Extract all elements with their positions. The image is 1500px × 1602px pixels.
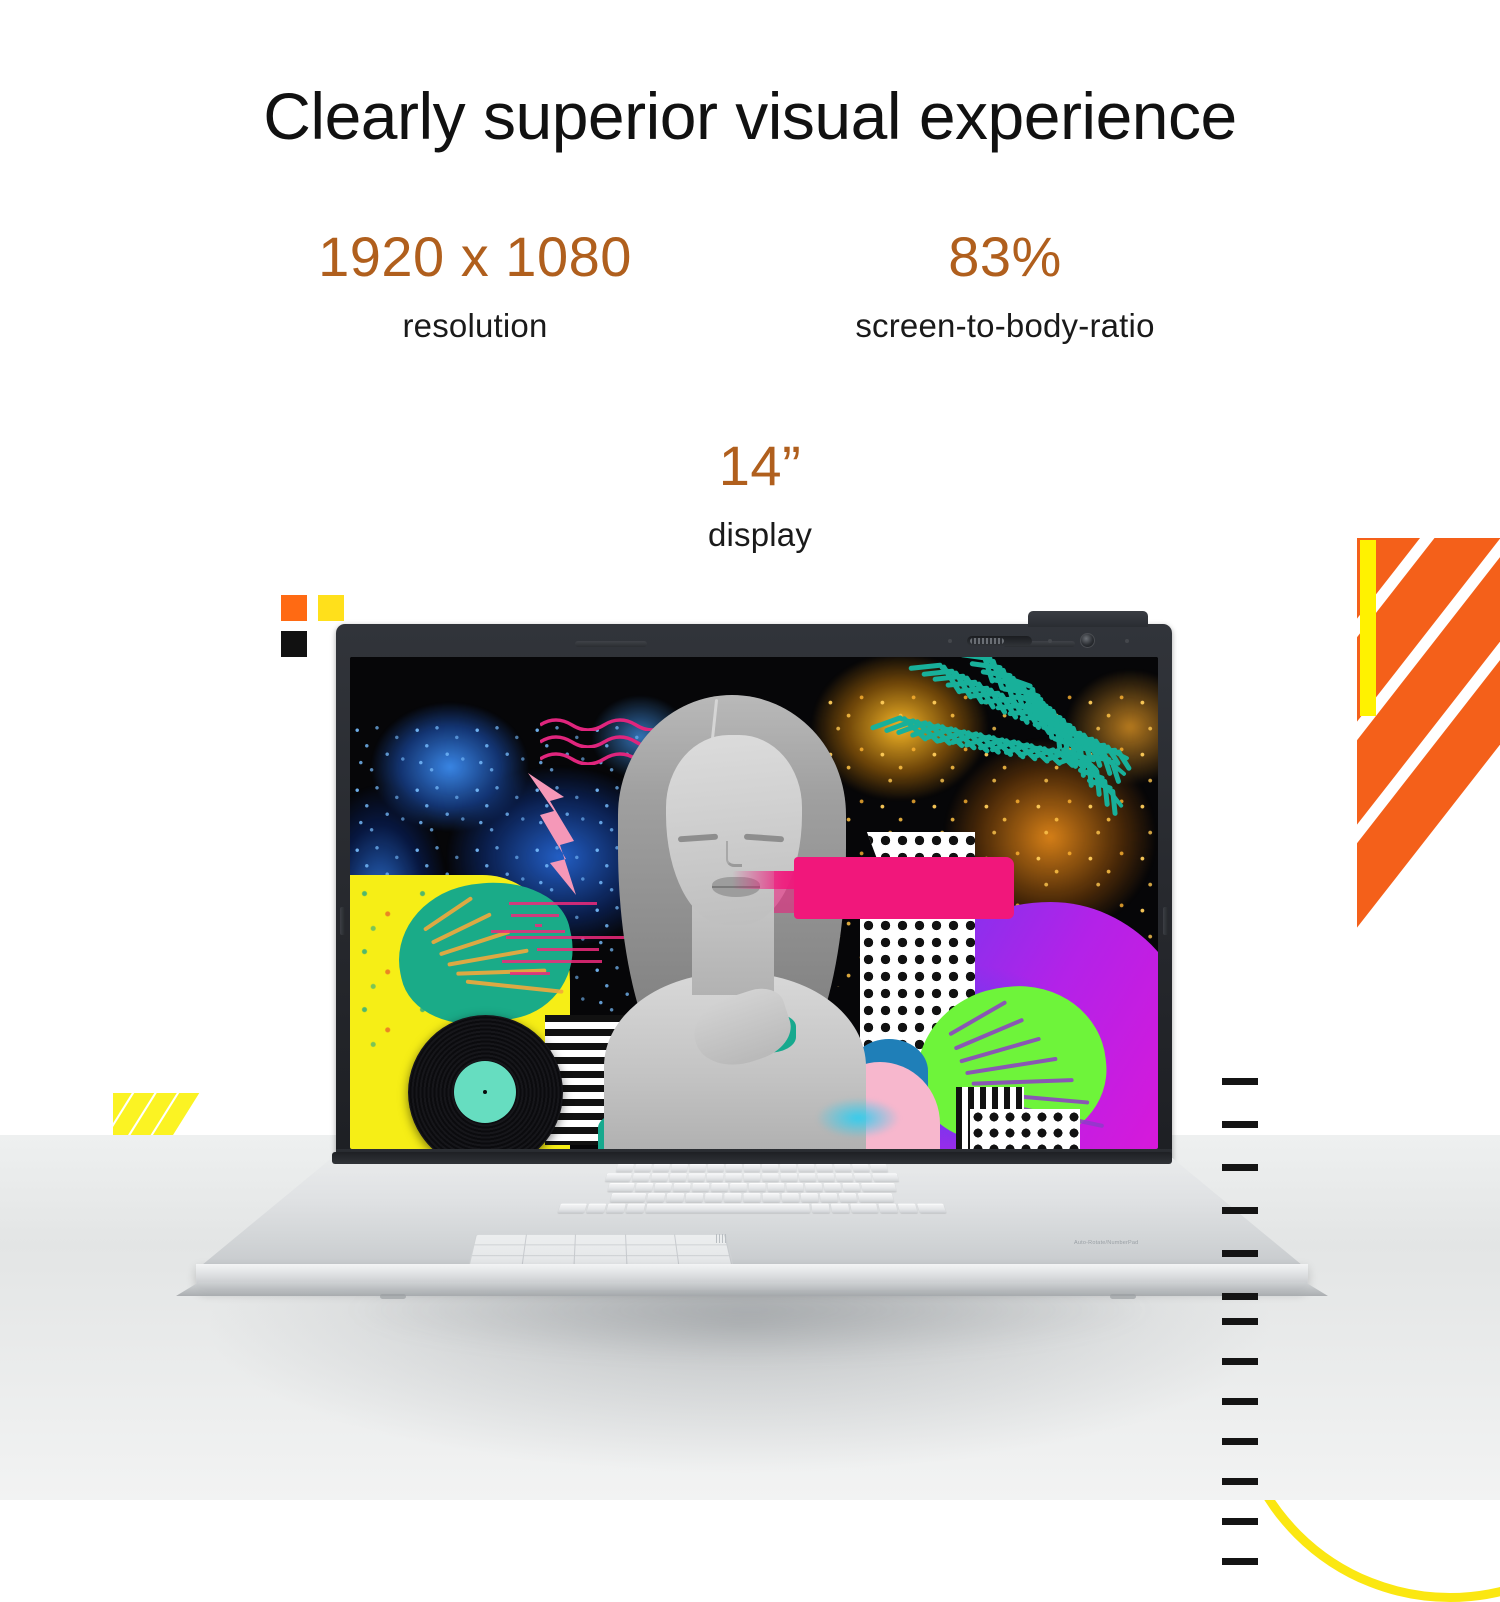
ruler-tick <box>1222 1121 1258 1128</box>
laptop-lid: ASUS Vivobook <box>336 624 1172 1169</box>
numberpad-key[interactable] <box>472 1245 525 1256</box>
page-title: Clearly superior visual experience <box>0 78 1500 154</box>
spec-resolution: 1920 x 1080 resolution <box>230 228 720 345</box>
laptop-keyboard-deck: Auto-Rotate/NumberPad <box>196 1158 1308 1296</box>
leaf-vein <box>972 1078 1074 1086</box>
keyboard-key[interactable] <box>817 1173 835 1181</box>
decor-yellow-vertical-bar <box>1360 540 1376 716</box>
ruler-tick <box>1222 1518 1258 1525</box>
spec-screen-to-body-ratio: 83% screen-to-body-ratio <box>745 228 1265 345</box>
pink-glitch-bar <box>511 914 559 917</box>
laptop-foot-right <box>1110 1294 1136 1299</box>
keyboard-key[interactable] <box>801 1193 819 1202</box>
keyboard-key[interactable] <box>917 1204 946 1213</box>
keyboard-key[interactable] <box>798 1164 815 1172</box>
laptop-screen <box>350 657 1158 1149</box>
keyboard-key[interactable] <box>730 1183 747 1191</box>
screen-wallpaper <box>350 657 1158 1149</box>
keyboard-key[interactable] <box>705 1193 723 1202</box>
mic-dot-left <box>948 639 952 643</box>
keyboard-key[interactable] <box>781 1173 798 1181</box>
keyboard-key[interactable] <box>673 1183 691 1191</box>
ruler-tick <box>1222 1164 1258 1171</box>
numberpad-key[interactable] <box>576 1235 627 1245</box>
laptop-chassis-bottom <box>176 1282 1328 1302</box>
keyboard-key[interactable] <box>763 1193 780 1202</box>
portrait-pink-censor-bar <box>794 857 1014 919</box>
numberpad-key[interactable] <box>626 1235 677 1245</box>
keyboard-row <box>340 1183 1165 1191</box>
keyboard-key[interactable] <box>820 1193 838 1202</box>
spec-display-size: 14” display <box>595 437 925 554</box>
keyboard-key[interactable] <box>635 1183 653 1191</box>
keyboard-key[interactable] <box>666 1193 684 1202</box>
keyboard-key[interactable] <box>831 1204 850 1213</box>
keyboard-key[interactable] <box>744 1173 761 1181</box>
pink-glitch-bar <box>491 930 565 933</box>
laptop-foot-left <box>380 1294 406 1299</box>
keyboard-key[interactable] <box>842 1183 860 1191</box>
keyboard-key[interactable] <box>558 1204 587 1213</box>
spec-display-label: display <box>595 516 925 554</box>
keyboard-key[interactable] <box>780 1164 797 1172</box>
ruler-tick <box>1222 1207 1258 1214</box>
numberpad-key[interactable] <box>525 1235 576 1245</box>
ruler-tick <box>1222 1358 1258 1365</box>
keyboard-key[interactable] <box>824 1183 842 1191</box>
numberpad-key[interactable] <box>474 1235 526 1245</box>
keyboard-row <box>347 1173 1156 1181</box>
laptop-product-image: ASUS Vivobook Auto-Rotate/NumberPad <box>0 600 1500 1320</box>
keyboard-key[interactable] <box>671 1164 688 1172</box>
numberpad-key[interactable] <box>524 1245 576 1256</box>
keyboard-key[interactable] <box>811 1204 830 1213</box>
ruler-tick <box>1222 1438 1258 1445</box>
ruler-tick <box>1222 1478 1258 1485</box>
spec-ratio-value: 83% <box>745 228 1265 287</box>
keyboard-key[interactable] <box>898 1204 918 1213</box>
keyboard-key[interactable] <box>711 1183 728 1191</box>
keyboard-key[interactable] <box>646 1204 811 1213</box>
keyboard-key[interactable] <box>688 1173 705 1181</box>
keyboard-key[interactable] <box>606 1204 626 1213</box>
numberpad-key[interactable] <box>575 1245 627 1256</box>
keyboard-key[interactable] <box>782 1193 800 1202</box>
keyboard-key[interactable] <box>834 1164 852 1172</box>
spec-resolution-label: resolution <box>230 307 720 345</box>
mic-dot-mid <box>1048 639 1052 643</box>
webcam-bump <box>1028 611 1148 627</box>
numberpad-key[interactable] <box>677 1245 730 1256</box>
wallpaper-portrait-figure <box>582 695 882 1149</box>
keyboard-key[interactable] <box>586 1204 606 1213</box>
webcam-lens-icon <box>1080 633 1095 648</box>
keyboard-key[interactable] <box>744 1164 760 1172</box>
keyboard-key[interactable] <box>762 1164 778 1172</box>
keyboard-key[interactable] <box>616 1164 634 1172</box>
ruler-tick <box>1222 1398 1258 1405</box>
keyboard-key[interactable] <box>836 1173 854 1181</box>
keyboard-key[interactable] <box>799 1173 816 1181</box>
keyboard-key[interactable] <box>749 1183 766 1191</box>
numberpad-key[interactable] <box>626 1245 678 1256</box>
keyboard-key[interactable] <box>685 1193 703 1202</box>
keyboard-key[interactable] <box>706 1173 723 1181</box>
keyboard-key[interactable] <box>632 1173 650 1181</box>
keyboard-key[interactable] <box>647 1193 666 1202</box>
lid-vent-left <box>575 641 647 647</box>
keyboard-key[interactable] <box>652 1164 670 1172</box>
keyboard-key[interactable] <box>724 1193 741 1202</box>
pink-glitch-bar <box>535 924 542 927</box>
pink-glitch-bar <box>510 972 550 975</box>
keyboard-row <box>323 1204 1181 1213</box>
keyboard-key[interactable] <box>762 1173 779 1181</box>
keyboard-key[interactable] <box>768 1183 785 1191</box>
ruler-tick <box>1222 1078 1258 1085</box>
lid-hinge-tab-right <box>1163 907 1168 935</box>
laptop-hinge <box>332 1152 1172 1164</box>
lid-hinge-tab-left <box>340 907 345 935</box>
ruler-tick <box>1222 1250 1258 1257</box>
keyboard-key[interactable] <box>878 1204 898 1213</box>
keyboard-key[interactable] <box>870 1164 888 1172</box>
keyboard-row <box>355 1164 1149 1172</box>
portrait-nose <box>726 841 742 867</box>
keyboard-key[interactable] <box>854 1173 872 1181</box>
spec-display-value: 14” <box>595 437 925 496</box>
keyboard-key[interactable] <box>610 1193 646 1202</box>
keyboard-key[interactable] <box>839 1193 858 1202</box>
keyboard-key[interactable] <box>626 1204 645 1213</box>
webcam-shutter-grip <box>970 638 1004 644</box>
keyboard-key[interactable] <box>786 1183 803 1191</box>
keyboard-key[interactable] <box>805 1183 823 1191</box>
keyboard-key[interactable] <box>816 1164 833 1172</box>
keyboard-key[interactable] <box>669 1173 687 1181</box>
keyboard-key[interactable] <box>852 1164 870 1172</box>
keyboard-key[interactable] <box>707 1164 724 1172</box>
ruler-tick <box>1222 1558 1258 1565</box>
keyboard-key[interactable] <box>725 1173 742 1181</box>
deck-fineprint: Auto-Rotate/NumberPad <box>1074 1240 1138 1246</box>
keyboard-key[interactable] <box>850 1204 878 1213</box>
keyboard-key[interactable] <box>743 1193 760 1202</box>
ruler-tick <box>1222 1293 1258 1300</box>
ruler-tick <box>1222 1318 1258 1325</box>
keyboard-key[interactable] <box>605 1173 632 1181</box>
spec-ratio-label: screen-to-body-ratio <box>745 307 1265 345</box>
keyboard-key[interactable] <box>861 1183 897 1191</box>
keyboard-row <box>331 1193 1172 1202</box>
leaf-vein <box>965 1057 1057 1075</box>
keyboard-key[interactable] <box>654 1183 672 1191</box>
wallpaper-halftone-dots-lower <box>970 1109 1080 1149</box>
numberpad-toggle-icon[interactable] <box>716 1234 728 1243</box>
keyboard-key[interactable] <box>651 1173 669 1181</box>
keyboard-key[interactable] <box>634 1164 652 1172</box>
keyboard-key[interactable] <box>607 1183 634 1191</box>
portrait-cyan-shoulder-splash <box>798 1087 918 1149</box>
leaf-vein <box>466 980 564 994</box>
keyboard-key[interactable] <box>692 1183 710 1191</box>
keyboard-key[interactable] <box>872 1173 899 1181</box>
keyboard-key[interactable] <box>689 1164 706 1172</box>
spec-resolution-value: 1920 x 1080 <box>230 228 720 287</box>
keyboard[interactable] <box>317 1164 1187 1220</box>
keyboard-key[interactable] <box>726 1164 742 1172</box>
keyboard-key[interactable] <box>858 1193 894 1202</box>
mic-dot-right <box>1125 639 1129 643</box>
wallpaper-vinyl-spindle-hole <box>483 1090 487 1094</box>
